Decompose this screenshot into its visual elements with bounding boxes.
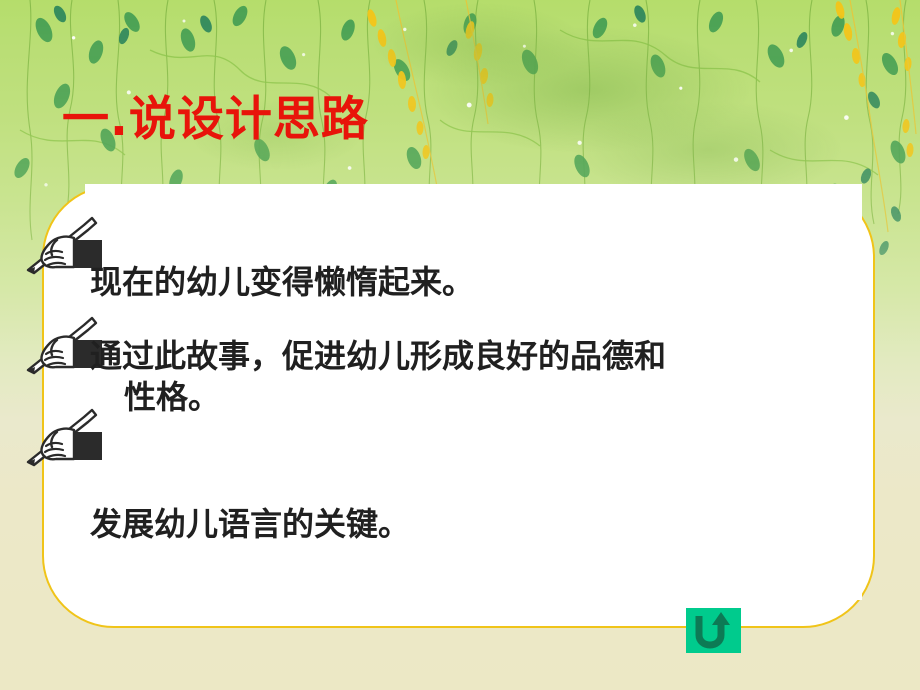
bullet-list: 现在的幼儿变得懒惰起来。 通过此故事，促进幼儿形成良好的品德和 性格。 [0, 184, 920, 604]
return-button[interactable] [686, 608, 741, 653]
page-title: 一.说设计思路 [62, 92, 369, 147]
slide-canvas: 一.说设计思路 [0, 0, 920, 690]
list-item-text: 发展幼儿语言的关键。 [90, 504, 880, 545]
list-item-text: 通过此故事，促进幼儿形成良好的品德和 性格。 [90, 336, 880, 418]
hand-writing-pencil-icon [22, 406, 104, 468]
list-item-text: 现在的幼儿变得懒惰起来。 [90, 262, 880, 303]
u-turn-arrow-icon [686, 608, 741, 653]
